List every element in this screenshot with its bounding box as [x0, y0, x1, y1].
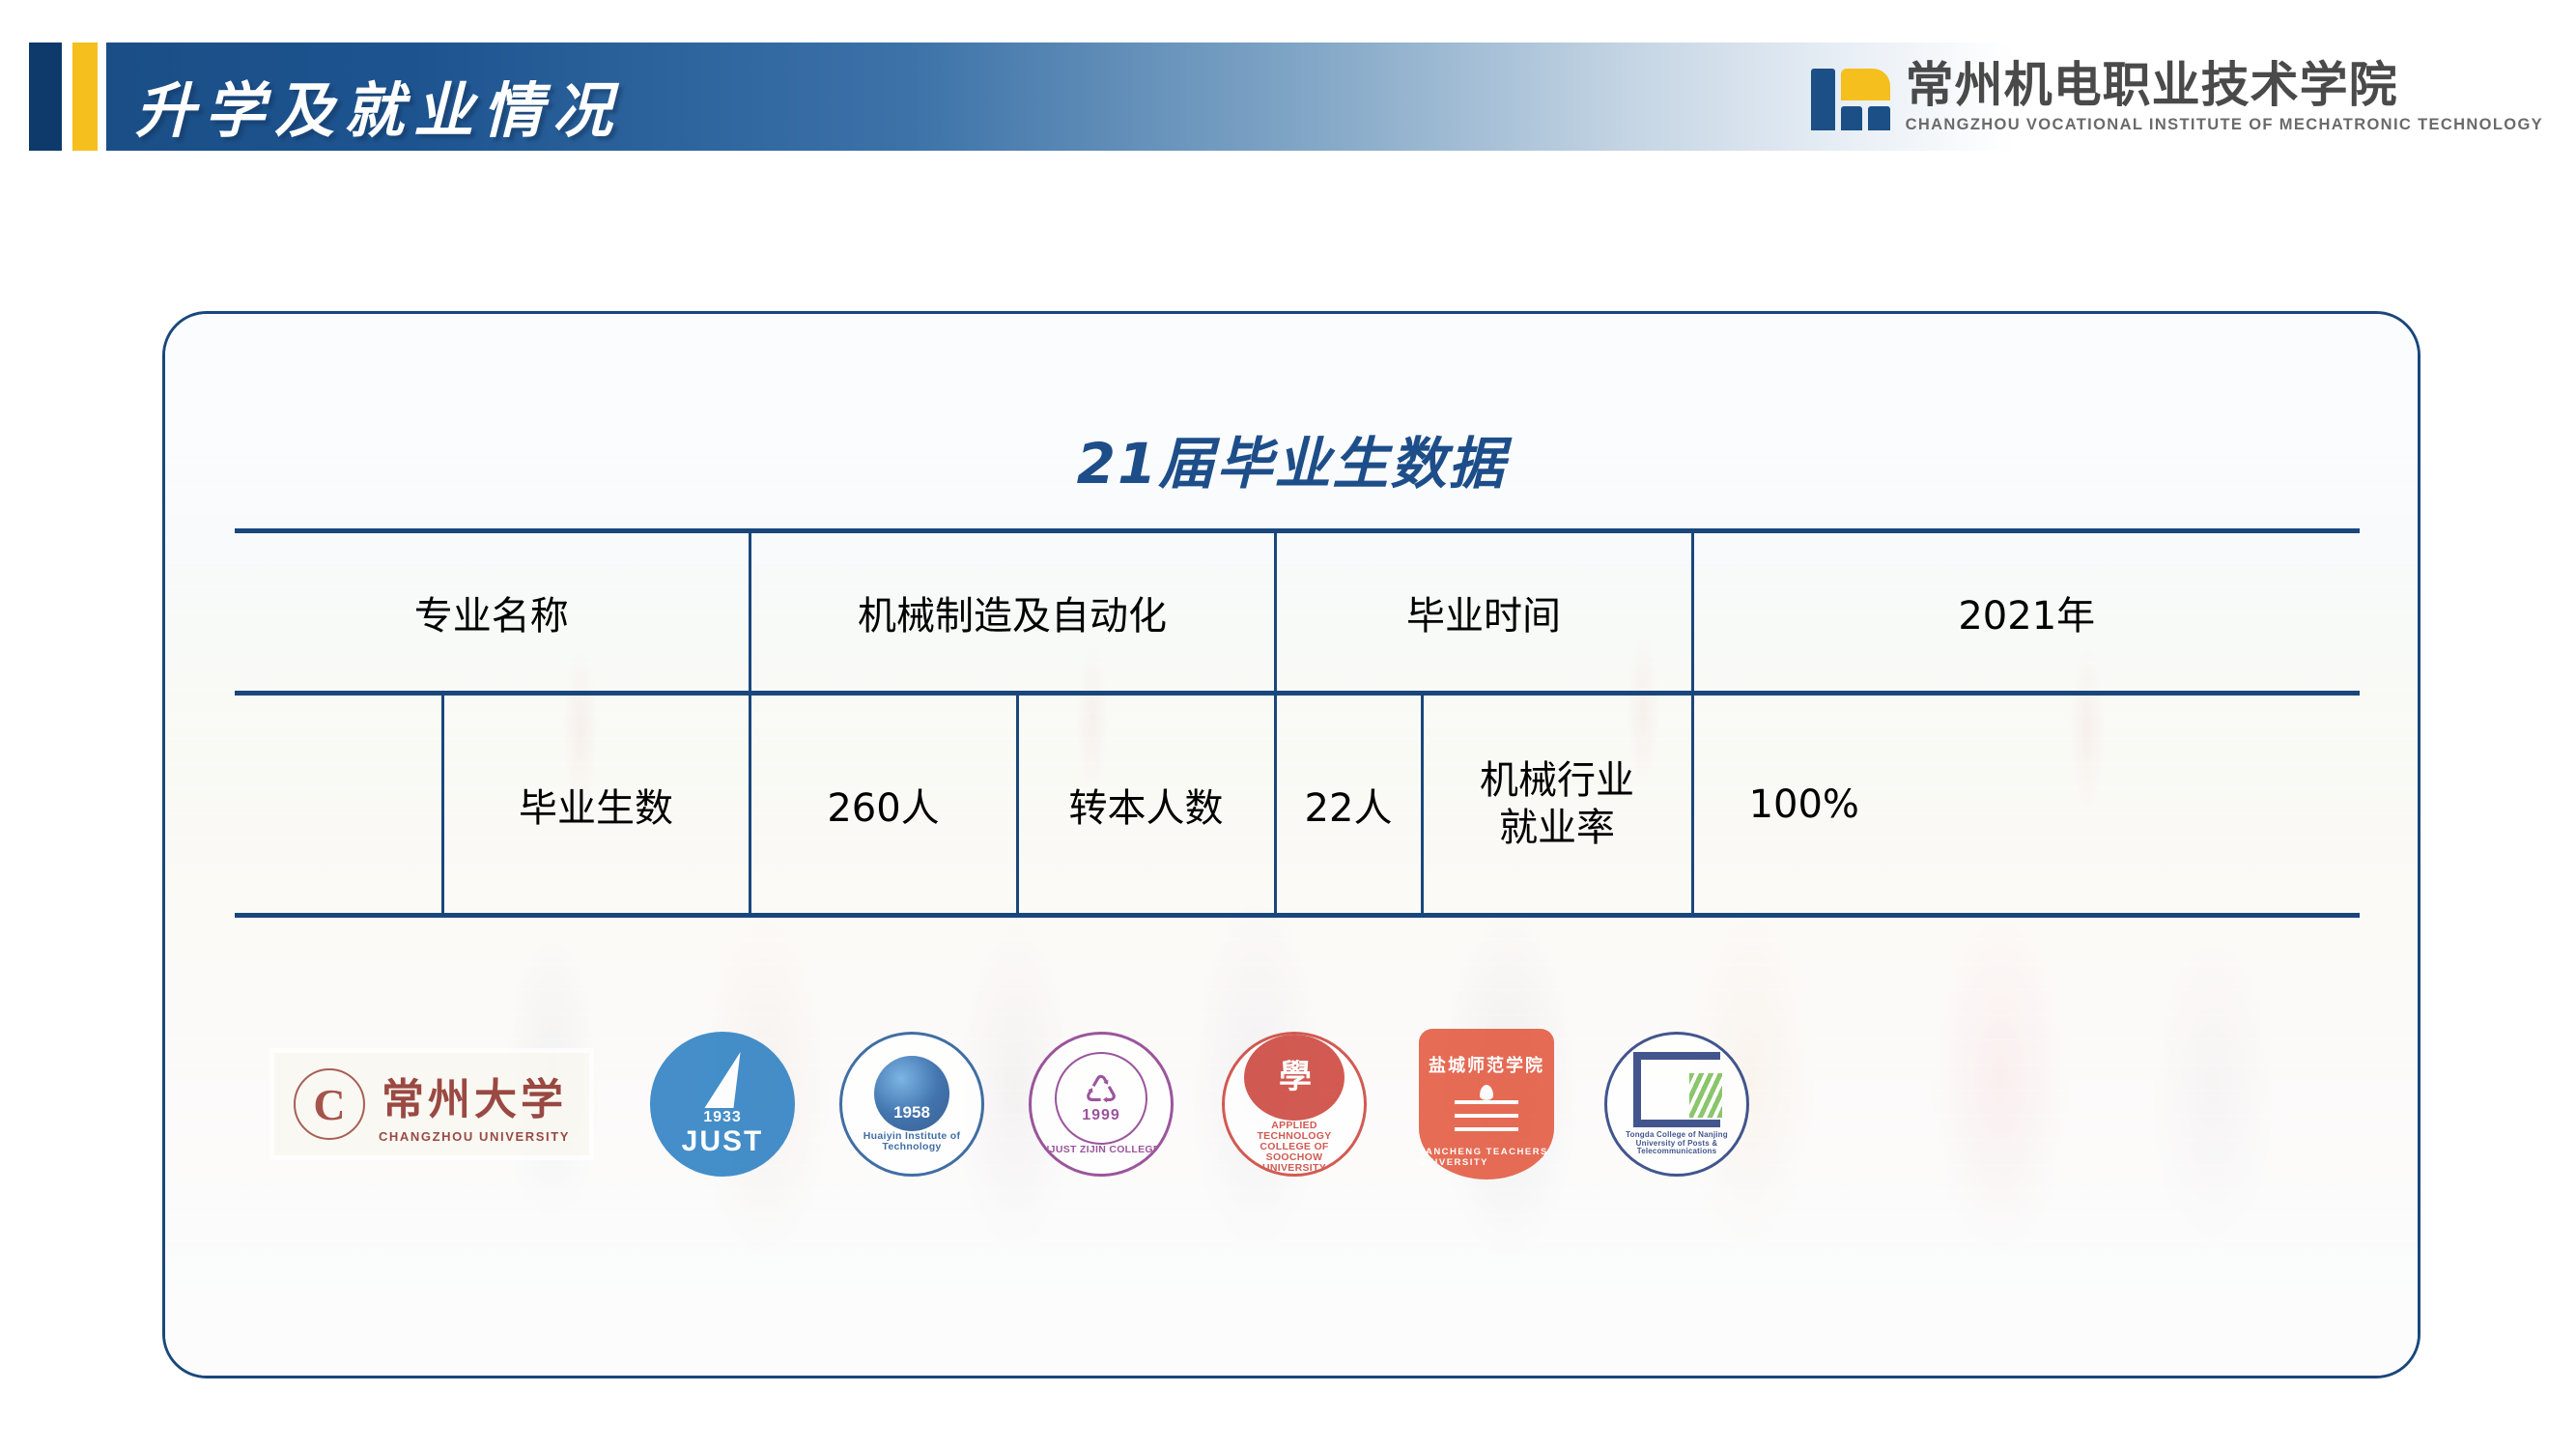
partner-logo-yancheng-teachers: 盐城师范学院 YANCHENG TEACHERS UNIVERSITY [1419, 1029, 1554, 1179]
partner-name-en: Huaiyin Institute of Technology [842, 1131, 981, 1152]
cell-graduates-value: 260人 [750, 694, 1017, 916]
employment-label-line2: 就业率 [1424, 805, 1691, 852]
partner-logo-soochow-applied-tech: 學 APPLIED TECHNOLOGY COLLEGE OF SOOCHOW … [1222, 1032, 1367, 1177]
cell-grad-time-label: 毕业时间 [1275, 531, 1692, 694]
header-accent-bar-gold [72, 43, 98, 151]
partner-year: 1999 [1082, 1108, 1120, 1124]
partner-mark: 學 [1279, 1061, 1310, 1095]
torch-icon [1455, 1085, 1518, 1141]
school-logo-text: 常州机电职业技术学院 CHANGZHOU VOCATIONAL INSTITUT… [1906, 60, 2543, 134]
slide: 升学及就业情况 常州机电职业技术学院 CHANGZHOU VOCATIONAL … [0, 0, 2576, 1449]
partner-logo-huaiyin-institute: 1958 Huaiyin Institute of Technology [839, 1032, 984, 1177]
partner-year: 1933 [703, 1110, 742, 1126]
globe-icon: 1958 [874, 1056, 949, 1131]
phoenix-icon: ♺ [1084, 1073, 1118, 1108]
cell-transfer-value: 22人 [1275, 694, 1422, 916]
partner-logo-njupt-tongda: Tongda College of Nanjing University of … [1604, 1032, 1749, 1177]
cell-spacer [1914, 694, 2137, 916]
partner-logo-just: 1933 JUST [650, 1032, 795, 1177]
partner-name-en: APPLIED TECHNOLOGY COLLEGE OF SOOCHOW UN… [1225, 1121, 1364, 1174]
partner-name-en: YANCHENG TEACHERS UNIVERSITY [1419, 1147, 1554, 1168]
partner-logo-changzhou-university: C 常州大学 CHANGZHOU UNIVERSITY [269, 1048, 594, 1160]
table-row: 毕业生数 260人 转本人数 22人 机械行业 就业率 100% [235, 694, 2360, 916]
card-title: 21届毕业生数据 [165, 418, 2418, 499]
partner-logo-njust-zijin: ♺ 1999 NJUST ZIJIN COLLEGE [1029, 1032, 1174, 1177]
cell-employment-label: 机械行业 就业率 [1422, 694, 1692, 916]
logo-bar-icon [1811, 69, 1835, 130]
partner-name-en: NJUST ZIJIN COLLEGE [1033, 1145, 1170, 1155]
soochow-seal-icon: 學 [1244, 1035, 1345, 1121]
partner-name-cn: 常州大学 [382, 1065, 567, 1126]
cell-spacer [235, 694, 442, 916]
sailboat-icon [704, 1052, 740, 1108]
header-accent-bar-dark [29, 43, 62, 151]
cell-grad-time-value: 2021年 [1692, 531, 2360, 694]
partner-name-cn: 盐城师范学院 [1429, 1052, 1544, 1077]
njust-ring-icon: ♺ 1999 [1055, 1052, 1147, 1145]
njupt-glyph-icon [1633, 1052, 1720, 1127]
page-title: 升学及就业情况 [135, 62, 622, 149]
logo-square-a-icon [1841, 106, 1862, 130]
changzhou-university-seal-icon: C [294, 1068, 365, 1140]
school-name-cn: 常州机电职业技术学院 [1906, 60, 2543, 111]
partner-logo-strip: C 常州大学 CHANGZHOU UNIVERSITY 1933 JUST 19… [235, 1008, 2360, 1201]
table-row: 专业名称 机械制造及自动化 毕业时间 2021年 [235, 531, 2360, 694]
partner-name-en: Tongda College of Nanjing University of … [1607, 1131, 1746, 1155]
partner-name-en: JUST [682, 1126, 764, 1157]
cell-transfer-label: 转本人数 [1017, 694, 1275, 916]
cell-major-value: 机械制造及自动化 [750, 531, 1275, 694]
graduate-data-table: 专业名称 机械制造及自动化 毕业时间 2021年 毕业生数 260人 转本人数 … [235, 528, 2360, 918]
school-logo-mark-icon [1811, 63, 1890, 130]
changzhou-university-text: 常州大学 CHANGZHOU UNIVERSITY [379, 1065, 570, 1144]
employment-label-line1: 机械行业 [1424, 757, 1691, 805]
partner-name-en: CHANGZHOU UNIVERSITY [379, 1129, 570, 1144]
cell-graduates-label: 毕业生数 [442, 694, 750, 916]
partner-year: 1958 [893, 1104, 930, 1122]
cell-major-label: 专业名称 [235, 531, 750, 694]
school-logo: 常州机电职业技术学院 CHANGZHOU VOCATIONAL INSTITUT… [1811, 43, 2543, 151]
cell-spacer [2137, 694, 2360, 916]
logo-square-b-icon [1868, 106, 1890, 130]
cell-employment-value: 100% [1692, 694, 1914, 916]
content-card: 21届毕业生数据 专业名称 机械制造及自动化 毕业时 [162, 311, 2420, 1378]
school-name-en: CHANGZHOU VOCATIONAL INSTITUTE OF MECHAT… [1906, 116, 2543, 134]
logo-arc-icon [1841, 69, 1890, 100]
